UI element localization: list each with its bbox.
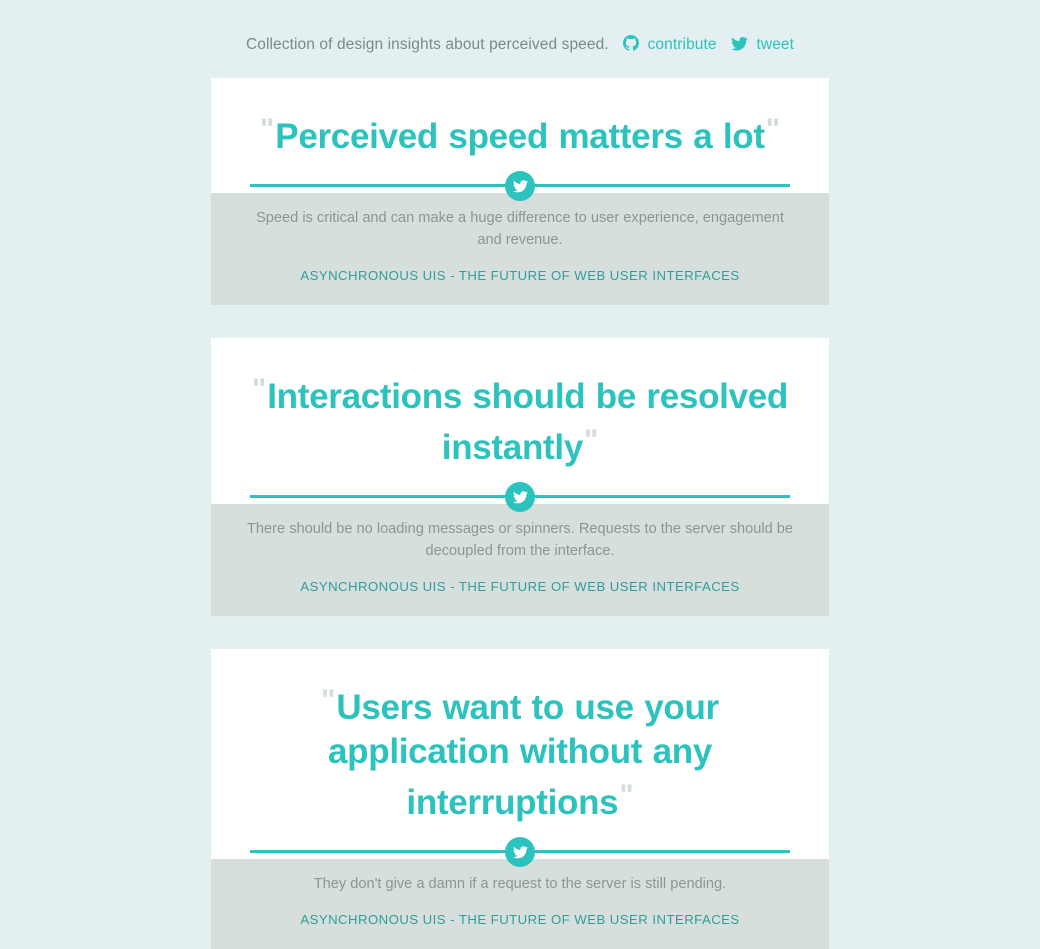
- quote-card-footer: There should be no loading messages or s…: [211, 504, 829, 616]
- tweet-quote-button[interactable]: [505, 837, 535, 867]
- page-header: Collection of design insights about perc…: [0, 35, 1040, 54]
- quote-divider: [211, 177, 829, 193]
- quote-title-text: Interactions should be resolved instantl…: [267, 377, 788, 467]
- quote-mark-open: ": [252, 373, 266, 406]
- quote-title-text: Users want to use your application witho…: [328, 688, 719, 822]
- contribute-link[interactable]: contribute: [623, 35, 717, 54]
- quote-source-link[interactable]: Asynchronous UIs - the future of web use…: [245, 912, 795, 927]
- tweet-quote-button[interactable]: [505, 171, 535, 201]
- quote-card-top: "Perceived speed matters a lot": [211, 78, 829, 177]
- quote-mark-open: ": [260, 113, 274, 146]
- quote-card-footer: They don't give a damn if a request to t…: [211, 859, 829, 949]
- quote-title: "Users want to use your application with…: [247, 679, 793, 843]
- quote-title-text: Perceived speed matters a lot: [275, 117, 764, 156]
- quote-card: "Perceived speed matters a lot" Speed is…: [211, 78, 829, 305]
- quote-description: They don't give a damn if a request to t…: [245, 873, 795, 895]
- quote-title: "Interactions should be resolved instant…: [247, 368, 793, 488]
- quote-card: "Users want to use your application with…: [211, 649, 829, 949]
- tweet-link[interactable]: tweet: [731, 36, 794, 54]
- contribute-link-label: contribute: [648, 36, 717, 53]
- tweet-quote-button[interactable]: [505, 482, 535, 512]
- twitter-icon: [513, 491, 528, 504]
- quote-description: Speed is critical and can make a huge di…: [245, 207, 795, 251]
- quote-card-top: "Interactions should be resolved instant…: [211, 338, 829, 488]
- quote-card: "Interactions should be resolved instant…: [211, 338, 829, 616]
- quote-mark-close: ": [766, 113, 780, 146]
- twitter-icon: [731, 37, 748, 51]
- quote-card-list: "Perceived speed matters a lot" Speed is…: [211, 78, 829, 949]
- quote-description: There should be no loading messages or s…: [245, 518, 795, 562]
- tweet-link-label: tweet: [757, 36, 795, 53]
- quote-mark-open: ": [321, 684, 335, 717]
- quote-card-top: "Users want to use your application with…: [211, 649, 829, 843]
- header-tagline: Collection of design insights about perc…: [246, 36, 609, 53]
- twitter-icon: [513, 180, 528, 193]
- page-root: Collection of design insights about perc…: [0, 0, 1040, 949]
- quote-mark-close: ": [619, 779, 633, 812]
- quote-mark-close: ": [584, 424, 598, 457]
- quote-source-link[interactable]: Asynchronous UIs - the future of web use…: [245, 268, 795, 283]
- quote-divider: [211, 488, 829, 504]
- quote-card-footer: Speed is critical and can make a huge di…: [211, 193, 829, 305]
- quote-divider: [211, 843, 829, 859]
- twitter-icon: [513, 846, 528, 859]
- github-icon: [623, 35, 639, 51]
- quote-title: "Perceived speed matters a lot": [247, 108, 793, 177]
- quote-source-link[interactable]: Asynchronous UIs - the future of web use…: [245, 579, 795, 594]
